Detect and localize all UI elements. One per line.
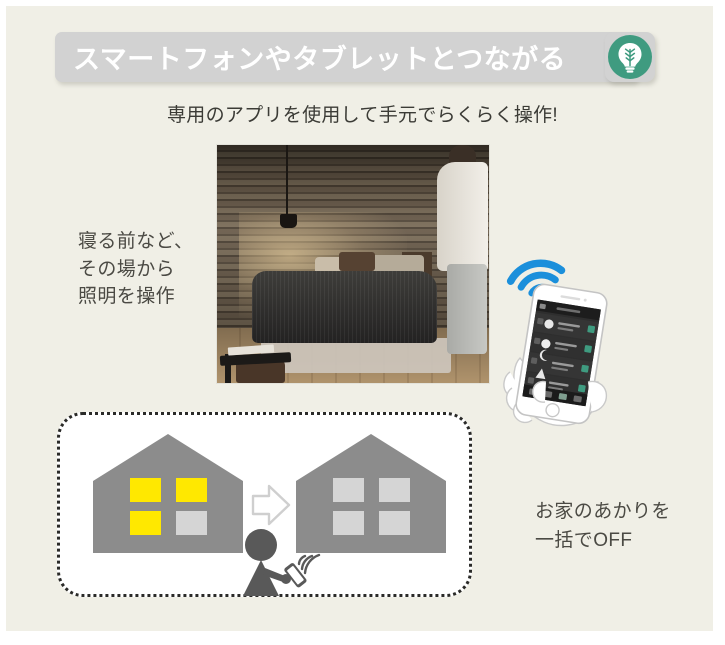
phone-status-indicator: [578, 384, 586, 392]
subtitle-text: 専用のアプリを使用して手元でらくらく操作!: [0, 100, 725, 127]
window-on: [130, 478, 161, 502]
right-caption-line-1: お家のあかりを: [535, 498, 671, 527]
photo-cushion: [339, 252, 374, 271]
page-root: スマートフォンやタブレットとつながる 専用のアプリを使用して手元でらくらく操作!: [0, 0, 725, 645]
photo-bed-stripes: [252, 271, 437, 342]
photo-bed: [252, 271, 437, 342]
window-off: [379, 478, 410, 502]
bedroom-photo: [217, 145, 489, 383]
house-before: [93, 434, 243, 553]
eco-lightbulb-icon-badge: [605, 32, 655, 82]
window-off: [333, 478, 364, 502]
eco-lightbulb-icon: [608, 35, 652, 79]
left-caption-line-3: 照明を操作: [78, 283, 193, 311]
phone-status-indicator: [584, 345, 592, 353]
photo-pendant-cord: [286, 145, 288, 216]
window-off: [379, 511, 410, 535]
right-caption: お家のあかりを 一括でOFF: [535, 498, 671, 555]
lights-off-diagram: [57, 412, 472, 597]
hand-holding-smartphone-illustration: [492, 232, 622, 432]
transition-arrow-icon: [253, 486, 289, 524]
window-off: [176, 511, 207, 535]
house-after: [296, 434, 446, 553]
section-header-bar: スマートフォンやタブレットとつながる: [55, 32, 638, 82]
photo-person: [432, 145, 489, 354]
left-caption-line-1: 寝る前など、: [78, 228, 193, 256]
photo-pendant-lamp: [280, 214, 298, 228]
window-on: [176, 478, 207, 502]
photo-side-table-leg: [225, 354, 230, 383]
phone-status-indicator: [581, 365, 589, 373]
window-on: [130, 511, 161, 535]
left-caption: 寝る前など、 その場から 照明を操作: [78, 228, 193, 311]
right-caption-line-2: 一括でOFF: [535, 527, 671, 556]
left-caption-line-2: その場から: [78, 256, 193, 284]
photo-person-pants: [447, 264, 486, 354]
window-off: [333, 511, 364, 535]
page-title: スマートフォンやタブレットとつながる: [73, 38, 566, 77]
photo-person-shirt: [437, 162, 488, 271]
phone-status-indicator: [587, 325, 595, 333]
